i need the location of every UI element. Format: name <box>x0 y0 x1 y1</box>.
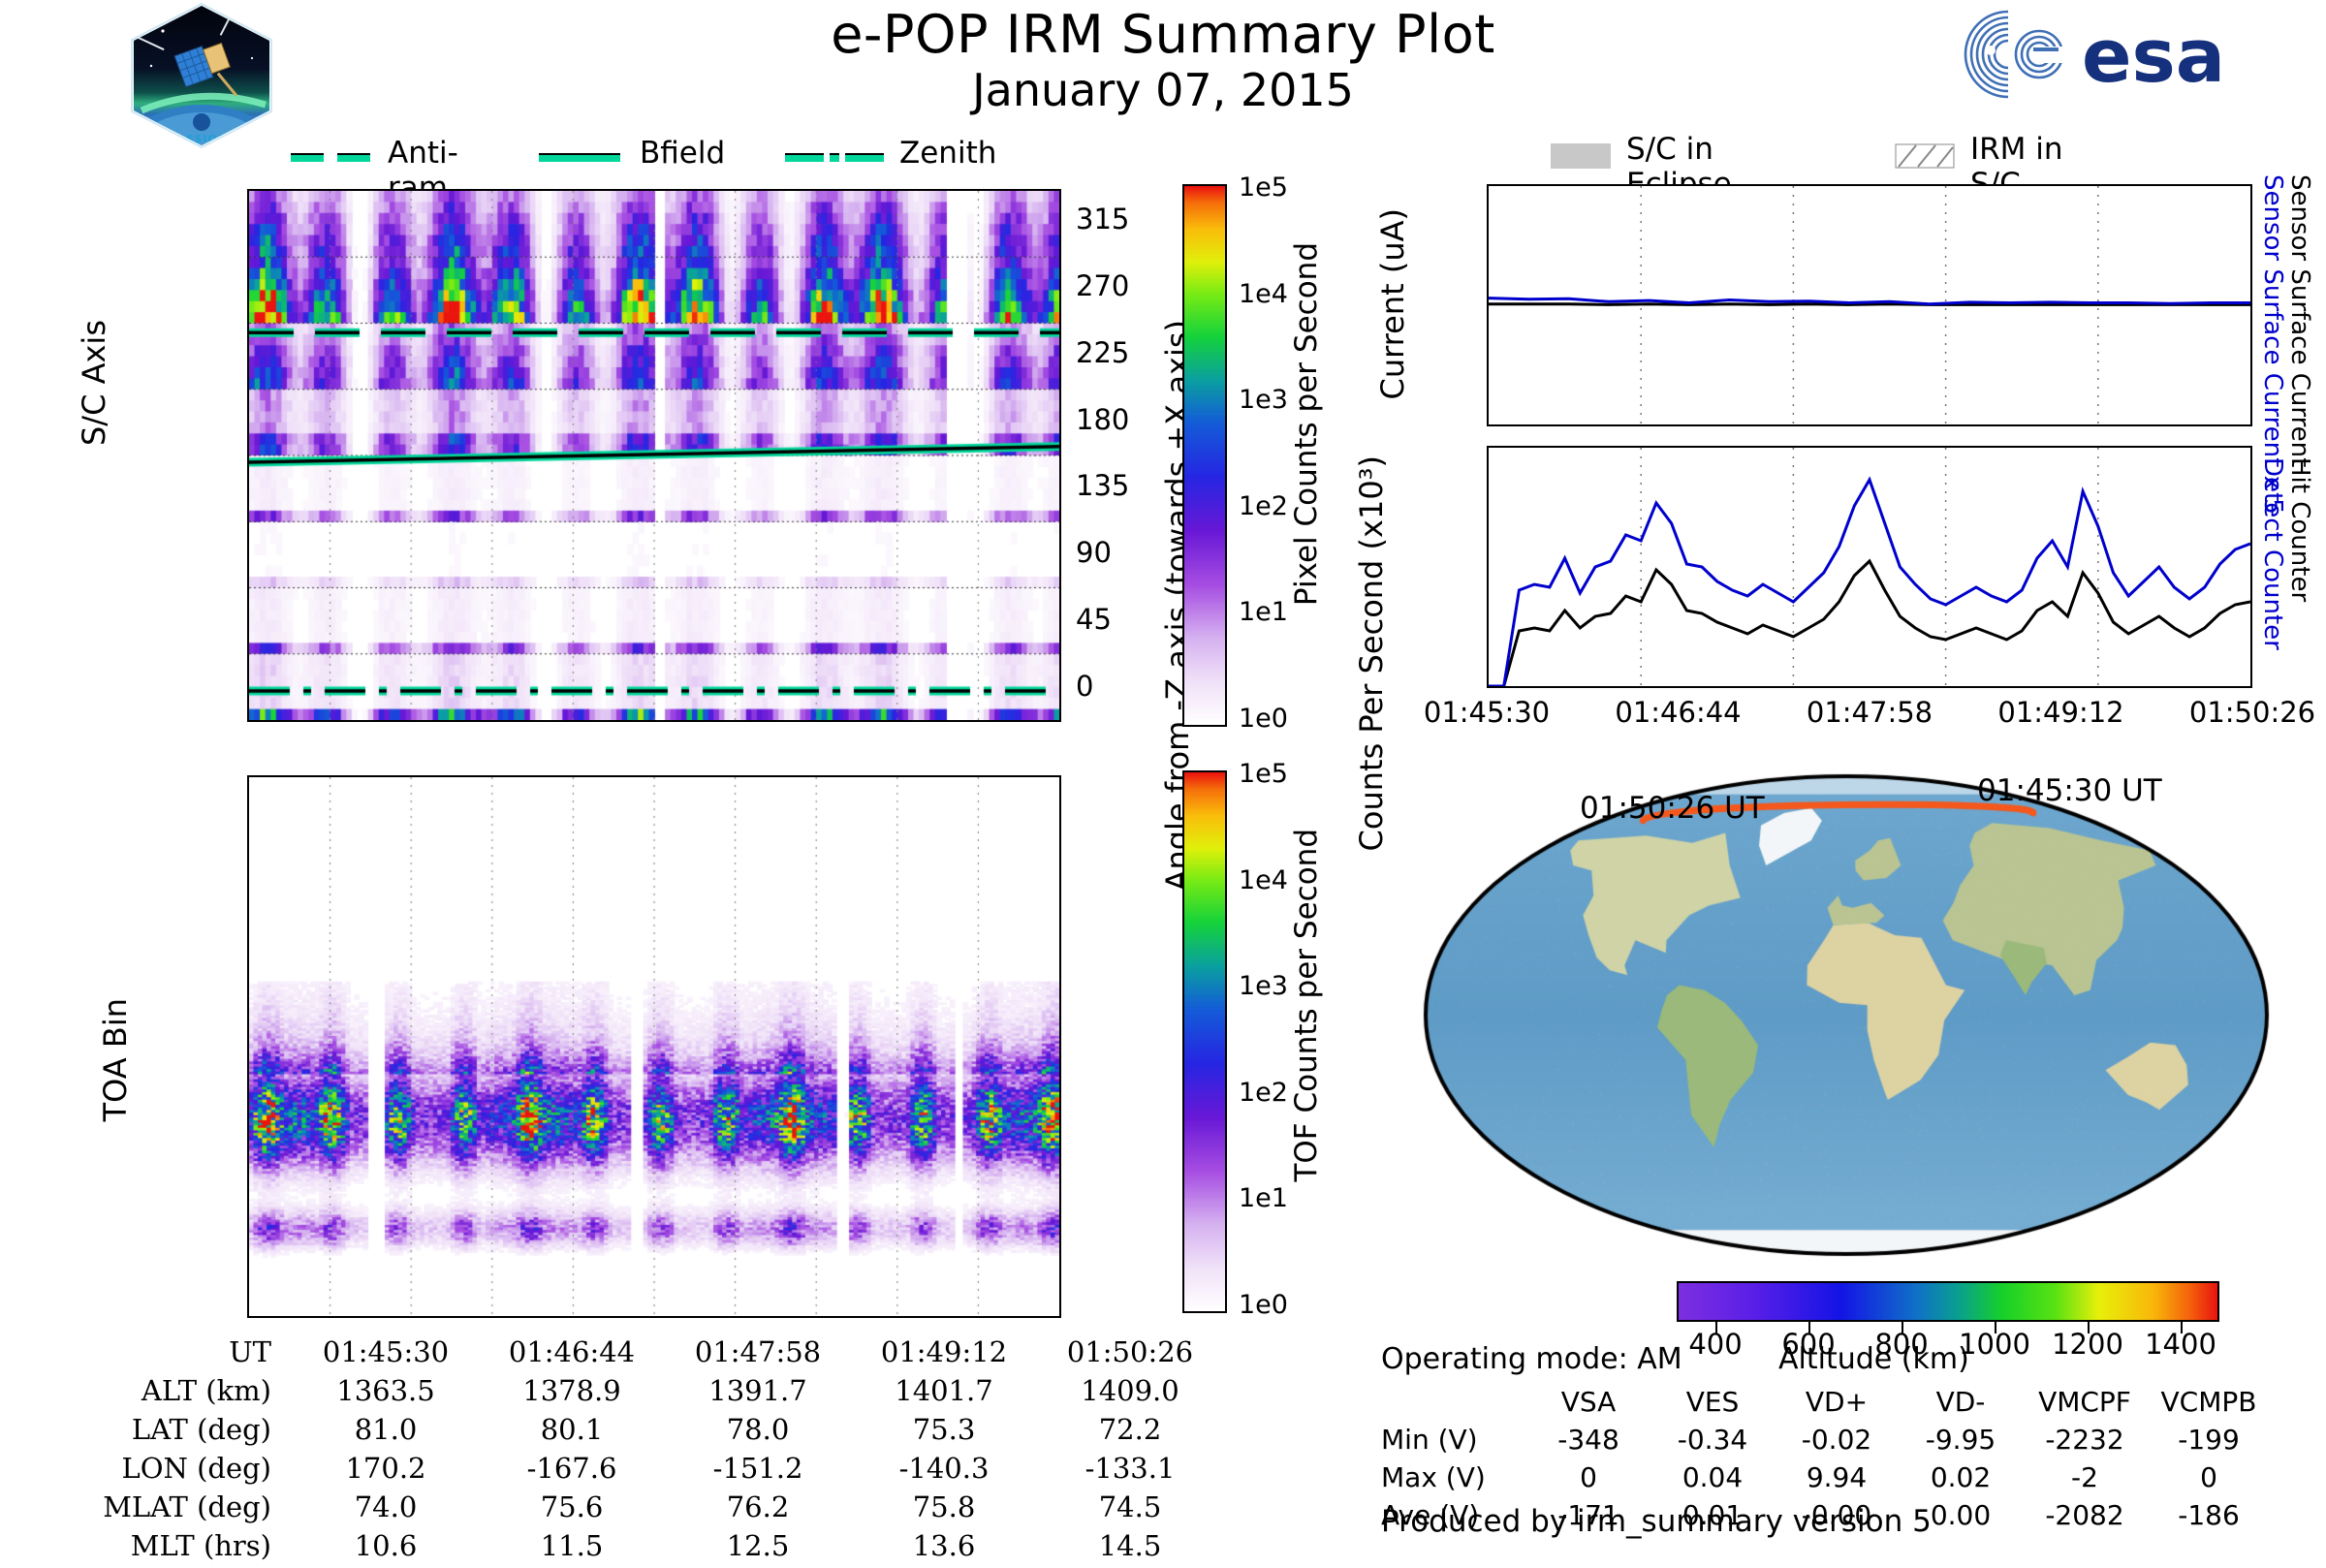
table-cell: 01:45:30 <box>293 1335 479 1374</box>
altitude-colorbar <box>1677 1281 2219 1322</box>
colorbar-tick: 1e4 <box>1239 865 1288 895</box>
sc-axis-ylabel: S/C Axis <box>76 320 112 446</box>
table-cell: 0 <box>1526 1461 1650 1499</box>
table-cell: -140.3 <box>851 1452 1037 1490</box>
column-header: VD+ <box>1775 1386 1899 1424</box>
counts-xtick: 01:47:58 <box>1790 696 1949 729</box>
table-cell: -151.2 <box>665 1452 851 1490</box>
spacer-cell <box>1381 1386 1526 1424</box>
colorbar-tick: 1e3 <box>1239 971 1288 1001</box>
table-cell: 81.0 <box>293 1413 479 1452</box>
table-cell: 74.5 <box>1037 1490 1223 1529</box>
world-map[interactable] <box>1420 770 2273 1260</box>
sc-angle-tick: 135 <box>1076 469 1129 502</box>
legend-label-bfield: Bfield <box>640 136 725 171</box>
table-cell: 75.3 <box>851 1413 1037 1452</box>
svg-text:esa: esa <box>2082 13 2225 99</box>
colorbar-tick: 1e5 <box>1239 759 1288 789</box>
row-label: MLT (hrs) <box>87 1529 293 1568</box>
table-header-row: VSAVESVD+VD-VMCPFVCMPB <box>1381 1386 2271 1424</box>
anti-ram-line-icon-2 <box>337 153 370 162</box>
ephemeris-table: UT01:45:3001:46:4401:47:5801:49:1201:50:… <box>87 1335 1223 1568</box>
pixel-counts-colorbar <box>1182 184 1227 727</box>
row-label: UT <box>87 1335 293 1374</box>
table-cell: 01:50:26 <box>1037 1335 1223 1374</box>
table-row: ALT (km)1363.51378.91391.71401.71409.0 <box>87 1374 1223 1413</box>
anti-ram-line-icon <box>291 153 324 162</box>
sc-angle-tick: 315 <box>1076 203 1129 235</box>
table-cell: -348 <box>1526 1424 1650 1461</box>
altitude-tick-mark <box>2088 1322 2090 1333</box>
map-label-end: 01:50:26 UT <box>1580 791 1765 826</box>
table-cell: 10.6 <box>293 1529 479 1568</box>
row-label: LON (deg) <box>87 1452 293 1490</box>
table-row: UT01:45:3001:46:4401:47:5801:49:1201:50:… <box>87 1335 1223 1374</box>
altitude-tick-mark <box>1902 1322 1903 1333</box>
row-label: MLAT (deg) <box>87 1490 293 1529</box>
sc-angle-tick: 225 <box>1076 336 1129 369</box>
series-line <box>1489 480 2250 686</box>
pixel-colorbar-label: Pixel Counts per Second <box>1289 242 1324 606</box>
table-cell: 01:46:44 <box>479 1335 665 1374</box>
altitude-tick-mark <box>1715 1322 1717 1333</box>
table-cell: -133.1 <box>1037 1452 1223 1490</box>
table-cell: -186 <box>2147 1499 2271 1537</box>
current-ylabel: Current (uA) <box>1374 208 1411 400</box>
colorbar-tick: 1e2 <box>1239 491 1288 521</box>
operating-mode: Operating mode: AM <box>1381 1342 1682 1376</box>
row-label: ALT (km) <box>87 1374 293 1413</box>
table-cell: 9.94 <box>1775 1461 1899 1499</box>
colorbar-tick: 1e2 <box>1239 1078 1288 1108</box>
sc-angle-tick: 180 <box>1076 403 1129 436</box>
counts-xtick: 01:45:30 <box>1407 696 1566 729</box>
tof-colorbar-label: TOF Counts per Second <box>1289 829 1324 1182</box>
counts-right-label-black: Hit Counter <box>2285 457 2314 602</box>
table-cell: -2232 <box>2023 1424 2147 1461</box>
table-cell: 74.0 <box>293 1490 479 1529</box>
table-row: Max (V)00.049.940.02-20 <box>1381 1461 2271 1499</box>
table-row: Min (V)-348-0.34-0.02-9.95-2232-199 <box>1381 1424 2271 1461</box>
colorbar-tick: 1e1 <box>1239 597 1288 627</box>
table-row: MLT (hrs)10.611.512.513.614.5 <box>87 1529 1223 1568</box>
sc-axis-plot[interactable] <box>247 189 1061 722</box>
current-right-label-black: Sensor Surface Current <box>2285 174 2314 467</box>
table-cell: 1401.7 <box>851 1374 1037 1413</box>
table-cell: 80.1 <box>479 1413 665 1452</box>
table-cell: 75.8 <box>851 1490 1037 1529</box>
altitude-tick-mark <box>1995 1322 1996 1333</box>
table-cell: 1378.9 <box>479 1374 665 1413</box>
table-cell: 1391.7 <box>665 1374 851 1413</box>
row-label: Max (V) <box>1381 1461 1526 1499</box>
table-row: LAT (deg)81.080.178.075.372.2 <box>87 1413 1223 1452</box>
map-label-start: 01:45:30 UT <box>1977 773 2162 808</box>
table-cell: 12.5 <box>665 1529 851 1568</box>
table-cell: -9.95 <box>1899 1424 2023 1461</box>
sc-angle-tick: 270 <box>1076 269 1129 302</box>
sc-angle-tick: 90 <box>1076 536 1112 569</box>
colorbar-tick: 1e3 <box>1239 385 1288 415</box>
sc-angle-tick: 45 <box>1076 603 1112 636</box>
table-cell: -0.02 <box>1775 1424 1899 1461</box>
table-cell: 78.0 <box>665 1413 851 1452</box>
toa-plot[interactable] <box>247 775 1061 1318</box>
series-line <box>1489 561 2250 686</box>
footer-text: Produced by irm_summary version 5 <box>1381 1504 1932 1539</box>
table-cell: -2 <box>2023 1461 2147 1499</box>
zenith-line-icon-2 <box>845 153 884 162</box>
shadow-swatch-icon <box>1895 143 1955 169</box>
column-header: VMCPF <box>2023 1386 2147 1424</box>
table-row: MLAT (deg)74.075.676.275.874.5 <box>87 1490 1223 1529</box>
column-header: VSA <box>1526 1386 1650 1424</box>
zenith-line-icon <box>785 153 824 162</box>
cassiope-logo: CASSIOPE <box>124 2 279 149</box>
bfield-line-icon <box>539 153 620 162</box>
table-cell: -2082 <box>2023 1499 2147 1537</box>
table-cell: 13.6 <box>851 1529 1037 1568</box>
table-cell: 1363.5 <box>293 1374 479 1413</box>
table-cell: 14.5 <box>1037 1529 1223 1568</box>
row-label: Min (V) <box>1381 1424 1526 1461</box>
zenith-dot-icon <box>830 153 839 162</box>
table-cell: 0.02 <box>1899 1461 2023 1499</box>
table-cell: 1409.0 <box>1037 1374 1223 1413</box>
counts-plot[interactable] <box>1487 446 2252 688</box>
column-header: VES <box>1650 1386 1775 1424</box>
colorbar-tick: 1e0 <box>1239 1290 1288 1320</box>
table-row: LON (deg)170.2-167.6-151.2-140.3-133.1 <box>87 1452 1223 1490</box>
table-cell: 01:47:58 <box>665 1335 851 1374</box>
colorbar-tick: 1e1 <box>1239 1183 1288 1213</box>
table-cell: 72.2 <box>1037 1413 1223 1452</box>
colorbar-tick: 1e4 <box>1239 279 1288 309</box>
table-cell: -0.34 <box>1650 1424 1775 1461</box>
altitude-tick-mark <box>2181 1322 2183 1333</box>
tof-counts-colorbar <box>1182 770 1227 1313</box>
colorbar-tick: 1e0 <box>1239 704 1288 734</box>
colorbar-tick: 1e5 <box>1239 172 1288 203</box>
table-cell: 11.5 <box>479 1529 665 1568</box>
altitude-tick-mark <box>1808 1322 1810 1333</box>
counts-xtick: 01:46:44 <box>1599 696 1758 729</box>
table-cell: -199 <box>2147 1424 2271 1461</box>
table-cell: 0 <box>2147 1461 2271 1499</box>
counts-xtick: 01:50:26 <box>2173 696 2326 729</box>
table-cell: 76.2 <box>665 1490 851 1529</box>
table-cell: -167.6 <box>479 1452 665 1490</box>
table-cell: 0.04 <box>1650 1461 1775 1499</box>
row-label: LAT (deg) <box>87 1413 293 1452</box>
table-cell: 01:49:12 <box>851 1335 1037 1374</box>
esa-logo: esa <box>1958 8 2318 101</box>
column-header: VCMPB <box>2147 1386 2271 1424</box>
current-plot[interactable] <box>1487 184 2252 426</box>
table-cell: 170.2 <box>293 1452 479 1490</box>
altitude-colorbar-label: Altitude (km) <box>1778 1342 1969 1376</box>
counts-xtick: 01:49:12 <box>1982 696 2141 729</box>
toa-ylabel: TOA Bin <box>97 998 134 1121</box>
table-cell: 75.6 <box>479 1490 665 1529</box>
sc-angle-tick: 0 <box>1076 670 1093 703</box>
counts-right-label-blue: Detect Counter <box>2258 457 2287 650</box>
eclipse-swatch-icon <box>1551 143 1611 169</box>
legend-label-zenith: Zenith <box>899 136 996 171</box>
column-header: VD- <box>1899 1386 2023 1424</box>
